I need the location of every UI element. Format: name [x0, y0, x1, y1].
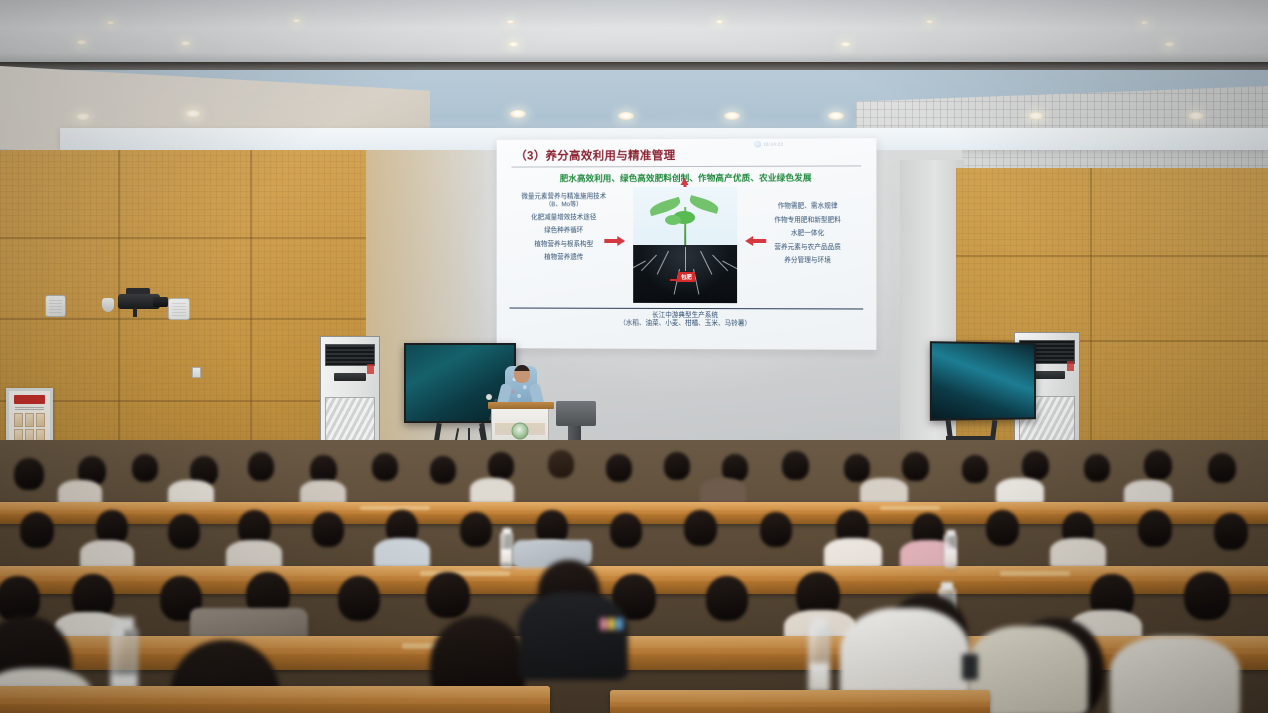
- desk-surface: [610, 690, 990, 702]
- desk-front-panel: [610, 707, 990, 713]
- microphone-head-icon: [486, 394, 492, 400]
- slide-body: 微量元素营养与精准施用技术 （B、Mo等） 化肥减量增效技术途径 绿色种养循环 …: [506, 187, 868, 308]
- downlight-icon: [715, 20, 724, 24]
- poster-subtext: [15, 406, 44, 410]
- left-column-item: 植物营养遗传: [506, 254, 623, 262]
- ac-control-panel: [334, 373, 366, 381]
- podium-top-surface: [488, 402, 554, 409]
- downlight-icon: [180, 41, 191, 46]
- audience-head: [902, 452, 929, 481]
- audience-head: [488, 452, 514, 480]
- audience-head: [684, 510, 717, 546]
- audience-head: [312, 512, 344, 547]
- slide-left-column: 微量元素营养与精准施用技术 （B、Mo等） 化肥减量增效技术途径 绿色种养循环 …: [506, 187, 623, 262]
- side-control-desk: [556, 401, 596, 426]
- bottle-cap: [114, 617, 134, 630]
- bottle-cap: [941, 582, 953, 590]
- audience-head: [1138, 510, 1172, 547]
- audience-head: [460, 512, 492, 547]
- wall-panel-seam: [0, 237, 372, 239]
- leaf-icon: [665, 215, 681, 225]
- lecture-desk-foreground: [610, 690, 990, 713]
- podium-emblem-icon: [512, 423, 529, 440]
- audience-head: [248, 452, 274, 481]
- audience-head: [610, 513, 642, 548]
- wall-panel-seam: [956, 340, 1268, 342]
- slide-watermark: 16:14:22: [754, 141, 783, 148]
- wall-speaker-icon: [45, 295, 66, 317]
- left-column-item: 化肥减量增效技术途径: [506, 214, 623, 222]
- arrow-right-icon: [604, 239, 618, 243]
- left-column-item: 微量元素营养与精准施用技术: [506, 193, 623, 201]
- desk-highlight: [880, 506, 940, 510]
- audience-head: [962, 455, 988, 483]
- downlight-icon: [508, 42, 519, 47]
- bottle-cap: [811, 617, 827, 628]
- ac-badge: [1067, 361, 1074, 371]
- poster-header-band: [14, 395, 45, 404]
- slide-footer: 长江中游典型生产系统 （水稻、油菜、小麦、柑橘、玉米、马铃薯）: [506, 309, 868, 330]
- slide-title: （3）养分高效利用与精准管理: [515, 146, 867, 163]
- wall-panel-seam: [956, 255, 1268, 257]
- audience-head: [664, 452, 690, 480]
- downlight-icon: [185, 110, 201, 118]
- wall-speaker-icon: [168, 298, 190, 320]
- downlight-icon: [1188, 112, 1204, 120]
- downlight-icon: [840, 42, 851, 47]
- audience-head: [430, 456, 456, 484]
- audience-head: [1184, 572, 1230, 620]
- audience-body-foreground: [1110, 636, 1240, 713]
- leaf-icon: [688, 195, 720, 214]
- audience-head: [168, 514, 200, 549]
- water-bottle: [944, 534, 957, 568]
- downlight-icon: [106, 21, 115, 25]
- ac-badge: [367, 364, 374, 374]
- slide-center-diagram: 包肥: [626, 187, 744, 303]
- arrow-left-icon: [752, 239, 766, 243]
- downlight-icon: [1028, 112, 1044, 120]
- audience-head: [0, 576, 40, 622]
- audience-head: [1144, 450, 1172, 480]
- audience-head: [1022, 451, 1049, 480]
- tee-chip: [608, 618, 615, 630]
- poster-content-grid: [14, 413, 45, 443]
- speaker-grille: [172, 302, 186, 316]
- downlight-icon: [292, 19, 301, 23]
- slide-title-rule: [511, 165, 861, 167]
- water-bottle-foreground: [808, 626, 830, 696]
- audience-body: [824, 538, 882, 568]
- audience-body: [700, 478, 746, 504]
- audience-body: [1050, 538, 1106, 568]
- right-column-item: 营养元素与农产品品质: [748, 244, 867, 252]
- bottle-label: [501, 549, 512, 563]
- tee-graphic-print: [600, 618, 623, 630]
- desk-surface: [0, 686, 550, 698]
- desk-surface: [0, 502, 1268, 510]
- right-column-item: 作物专用肥和新型肥料: [748, 216, 867, 224]
- watermark-text: 16:14:22: [763, 142, 783, 147]
- root-soil-image: 包肥: [633, 245, 737, 303]
- poster-cell: [25, 413, 34, 427]
- poster-cell: [36, 413, 45, 427]
- camera-post: [133, 308, 137, 317]
- wall-panel-seam: [118, 150, 120, 480]
- downlight-icon: [76, 40, 87, 45]
- desk-highlight: [360, 506, 430, 510]
- audience-body: [374, 538, 430, 568]
- audience-head: [14, 458, 44, 490]
- downlight-icon: [75, 113, 91, 121]
- audience-head: [986, 510, 1019, 546]
- desk-highlight: [420, 571, 510, 576]
- granule-label: 包肥: [678, 272, 695, 282]
- right-column-item: 水肥一体化: [748, 230, 867, 238]
- poster-cell: [14, 413, 23, 427]
- downlight-icon: [506, 20, 515, 24]
- root-strand: [685, 247, 686, 271]
- audience-head: [372, 453, 398, 481]
- wall-panel-seam: [0, 400, 372, 402]
- audience-head: [760, 512, 792, 547]
- footer-line-2: （水稻、油菜、小麦、柑橘、玉米、马铃薯）: [506, 320, 868, 329]
- bottle-label: [809, 663, 829, 691]
- slide-right-column: 作物需肥、需水规律 作物专用肥和新型肥料 水肥一体化 营养元素与农产品品质 养分…: [748, 187, 867, 265]
- wall-camera-icon: [108, 288, 170, 314]
- audience-head: [782, 451, 809, 480]
- root-strand: [657, 251, 669, 275]
- audience-head: [548, 450, 574, 478]
- downlight-icon: [925, 20, 934, 24]
- wall-panel-seam: [250, 150, 252, 480]
- camera-lens: [153, 297, 168, 307]
- audience-head: [1084, 454, 1110, 482]
- right-column-item: 养分管理与环境: [748, 257, 867, 265]
- audience-head: [844, 454, 870, 482]
- pa-horn-icon: [102, 298, 114, 312]
- tee-chip: [616, 618, 623, 630]
- left-column-item: 绿色种养循环: [506, 227, 623, 235]
- audience-body: [470, 478, 514, 504]
- left-column-item: （B、Mo等）: [506, 201, 623, 208]
- wall-outlet-icon: [192, 367, 201, 378]
- display-screen-right: [930, 341, 1036, 421]
- bottle-cap: [946, 530, 955, 536]
- watermark-dot-icon: [754, 141, 761, 148]
- seedling-image: [633, 187, 737, 245]
- bottle-cap: [502, 528, 511, 534]
- audience-body: [996, 478, 1044, 504]
- lecture-hall-photo: 16:14:22 （3）养分高效利用与精准管理 肥水高效利用、绿色高效肥料创制、…: [0, 0, 1268, 713]
- audience-head: [706, 576, 748, 621]
- tee-chip: [600, 618, 607, 630]
- audience-head: [606, 454, 632, 482]
- presenter-head: [514, 365, 530, 383]
- audience-head: [426, 572, 470, 618]
- downlight-icon: [1164, 42, 1175, 47]
- audience-body-foreground: [518, 592, 628, 680]
- mobile-phone: [962, 654, 978, 680]
- audience-head: [20, 512, 54, 548]
- desk-highlight: [1000, 571, 1070, 576]
- bottle-label: [945, 549, 956, 563]
- audience-area: [0, 440, 1268, 713]
- downlight-icon: [1140, 21, 1149, 25]
- audience-head: [132, 454, 158, 482]
- speaker-grille: [49, 299, 62, 313]
- audience-body: [860, 478, 908, 504]
- audience-head: [1208, 453, 1236, 483]
- audience-head: [1214, 513, 1248, 550]
- presentation-slide: 16:14:22 （3）养分高效利用与精准管理 肥水高效利用、绿色高效肥料创制、…: [497, 138, 877, 350]
- desk-front-panel: [0, 704, 550, 713]
- root-strand: [641, 255, 657, 271]
- ceiling-upper-slab: [0, 0, 1268, 70]
- right-column-item: 作物需肥、需水规律: [748, 203, 867, 211]
- audience-head: [338, 576, 380, 621]
- root-strand: [700, 251, 712, 275]
- lecture-desk-foreground: [0, 686, 550, 713]
